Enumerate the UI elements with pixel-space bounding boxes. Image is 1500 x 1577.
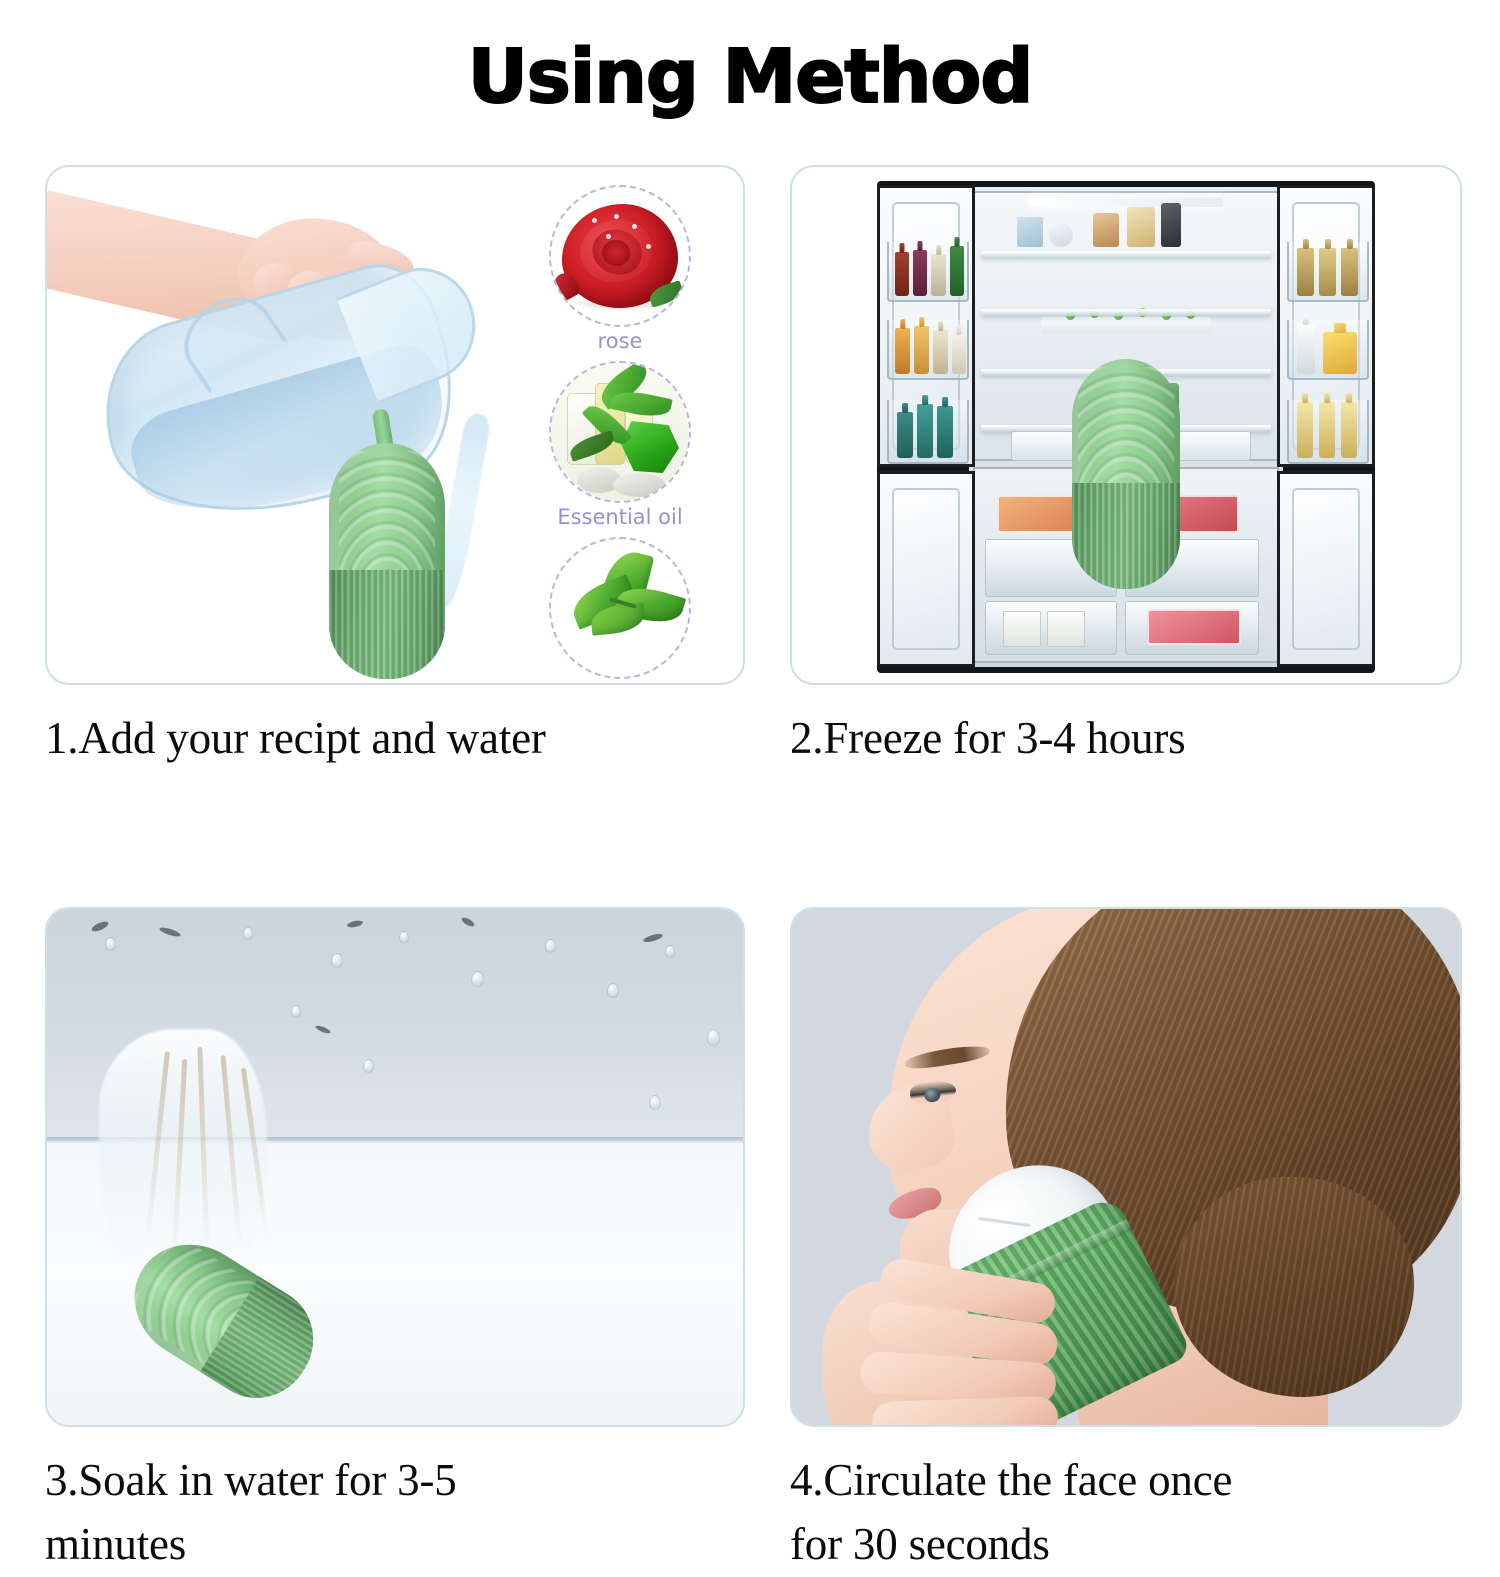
door-bin bbox=[1287, 242, 1369, 302]
step-2-image-panel bbox=[790, 165, 1462, 685]
roller-ribbed-base bbox=[1072, 483, 1180, 589]
steps-row-top: rose bbox=[0, 165, 1500, 771]
ingredient-label: Essential oil bbox=[525, 505, 715, 529]
ice-roller-device bbox=[329, 443, 445, 679]
hand-holding-roller bbox=[852, 1261, 1152, 1427]
dew-drop bbox=[614, 214, 619, 219]
fridge-bottle bbox=[1161, 203, 1181, 247]
door-can bbox=[1341, 248, 1358, 296]
door-bin bbox=[887, 242, 969, 302]
steps-grid: rose bbox=[0, 165, 1500, 1577]
step-4: 4.Circulate the face once for 30 seconds bbox=[790, 907, 1462, 1577]
door-bottle bbox=[914, 326, 929, 374]
step-1-caption: 1.Add your recipt and water bbox=[45, 707, 745, 771]
fridge-jar bbox=[1127, 207, 1155, 247]
door-bottle bbox=[933, 330, 948, 374]
ingredient-green-tea: green tea bbox=[525, 537, 715, 685]
door-can bbox=[1297, 248, 1314, 296]
door-bottle bbox=[917, 404, 933, 458]
wine-bottle bbox=[1297, 402, 1313, 458]
water-droplet bbox=[665, 945, 675, 958]
finger bbox=[871, 1396, 1058, 1427]
door-bottle bbox=[897, 412, 913, 458]
ingredient-label: green tea bbox=[525, 681, 715, 685]
fridge-door-lower-right[interactable] bbox=[1277, 471, 1375, 667]
step-3-caption: 3.Soak in water for 3-5 minutes bbox=[45, 1449, 745, 1577]
ingredient-essential-oil: Essential oil bbox=[525, 361, 715, 529]
fridge-container bbox=[1017, 217, 1043, 247]
hair-bun bbox=[1174, 1177, 1414, 1397]
door-inner-panel bbox=[1292, 488, 1360, 650]
spa-stone bbox=[613, 473, 665, 497]
water-droplet bbox=[399, 931, 409, 943]
iris bbox=[924, 1087, 941, 1103]
water-droplet bbox=[607, 983, 619, 998]
frozen-meat-pack bbox=[1147, 609, 1241, 645]
door-can bbox=[1319, 248, 1336, 296]
freezer-bag bbox=[1003, 611, 1041, 647]
water-droplet bbox=[243, 927, 253, 940]
dew-drop bbox=[592, 218, 597, 223]
door-bottle bbox=[952, 334, 966, 374]
door-bottle bbox=[937, 406, 953, 458]
ice-roller-device bbox=[1072, 359, 1180, 589]
refrigerator-illustration bbox=[877, 181, 1375, 673]
fridge-bowl bbox=[1049, 223, 1073, 247]
step-1-image-panel: rose bbox=[45, 165, 745, 685]
page-title: Using Method bbox=[0, 34, 1500, 120]
freezer-bag bbox=[1047, 611, 1085, 647]
fridge-door-upper-right[interactable] bbox=[1277, 185, 1375, 467]
wine-bottle bbox=[1341, 402, 1357, 458]
model-photo bbox=[792, 909, 1460, 1425]
fridge-shelf bbox=[981, 251, 1271, 258]
dew-drop bbox=[606, 234, 611, 239]
fridge-door-lower-left[interactable] bbox=[877, 471, 975, 667]
fridge-light bbox=[1029, 198, 1222, 207]
door-bin bbox=[1287, 400, 1369, 464]
roller-ribbed-base bbox=[329, 570, 445, 679]
door-bottle bbox=[913, 250, 927, 296]
rose-petal bbox=[602, 240, 630, 266]
water-droplet bbox=[291, 1005, 301, 1018]
water-droplet bbox=[707, 1029, 720, 1046]
fridge-door-upper-left[interactable] bbox=[877, 185, 975, 467]
door-bottle bbox=[950, 246, 964, 296]
dew-drop bbox=[646, 244, 651, 249]
ingredient-rose: rose bbox=[525, 185, 715, 353]
water-droplet bbox=[471, 971, 484, 987]
step-4-image-panel bbox=[790, 907, 1462, 1427]
green-tea-circle bbox=[549, 537, 691, 679]
step-2-caption: 2.Freeze for 3-4 hours bbox=[790, 707, 1462, 771]
steps-row-bottom: 3.Soak in water for 3-5 minutes bbox=[0, 907, 1500, 1577]
door-bottle bbox=[931, 254, 946, 296]
step-2: 2.Freeze for 3-4 hours bbox=[790, 165, 1462, 771]
water-droplet bbox=[649, 1095, 661, 1110]
ingredient-list: rose bbox=[525, 185, 715, 685]
dew-drop bbox=[632, 224, 637, 229]
water-droplet bbox=[105, 937, 116, 951]
step-1: rose bbox=[45, 165, 745, 771]
rose-circle bbox=[549, 185, 691, 327]
roller-body bbox=[1072, 359, 1180, 589]
milk-bottle bbox=[1297, 324, 1315, 374]
ingredient-label: rose bbox=[525, 329, 715, 353]
door-bin bbox=[1287, 320, 1369, 380]
water-droplet bbox=[545, 939, 556, 953]
water-droplet bbox=[363, 1059, 374, 1073]
water-droplet bbox=[331, 953, 343, 968]
step-3-image-panel bbox=[45, 907, 745, 1427]
roller-body bbox=[329, 443, 445, 679]
door-bottle bbox=[895, 328, 910, 374]
fridge-jar bbox=[1093, 213, 1119, 247]
wine-bottle bbox=[1319, 402, 1335, 458]
door-bin bbox=[887, 320, 969, 380]
food-package bbox=[1323, 332, 1357, 374]
door-bottle bbox=[895, 252, 909, 296]
door-bin bbox=[887, 400, 969, 464]
vegetable-tray bbox=[1041, 317, 1210, 333]
step-3: 3.Soak in water for 3-5 minutes bbox=[45, 907, 745, 1577]
ice-crack bbox=[979, 1217, 1031, 1227]
essential-oil-circle bbox=[549, 361, 691, 503]
fridge-shelf bbox=[981, 309, 1271, 316]
step-4-caption: 4.Circulate the face once for 30 seconds bbox=[790, 1449, 1462, 1577]
door-inner-panel bbox=[892, 488, 960, 650]
